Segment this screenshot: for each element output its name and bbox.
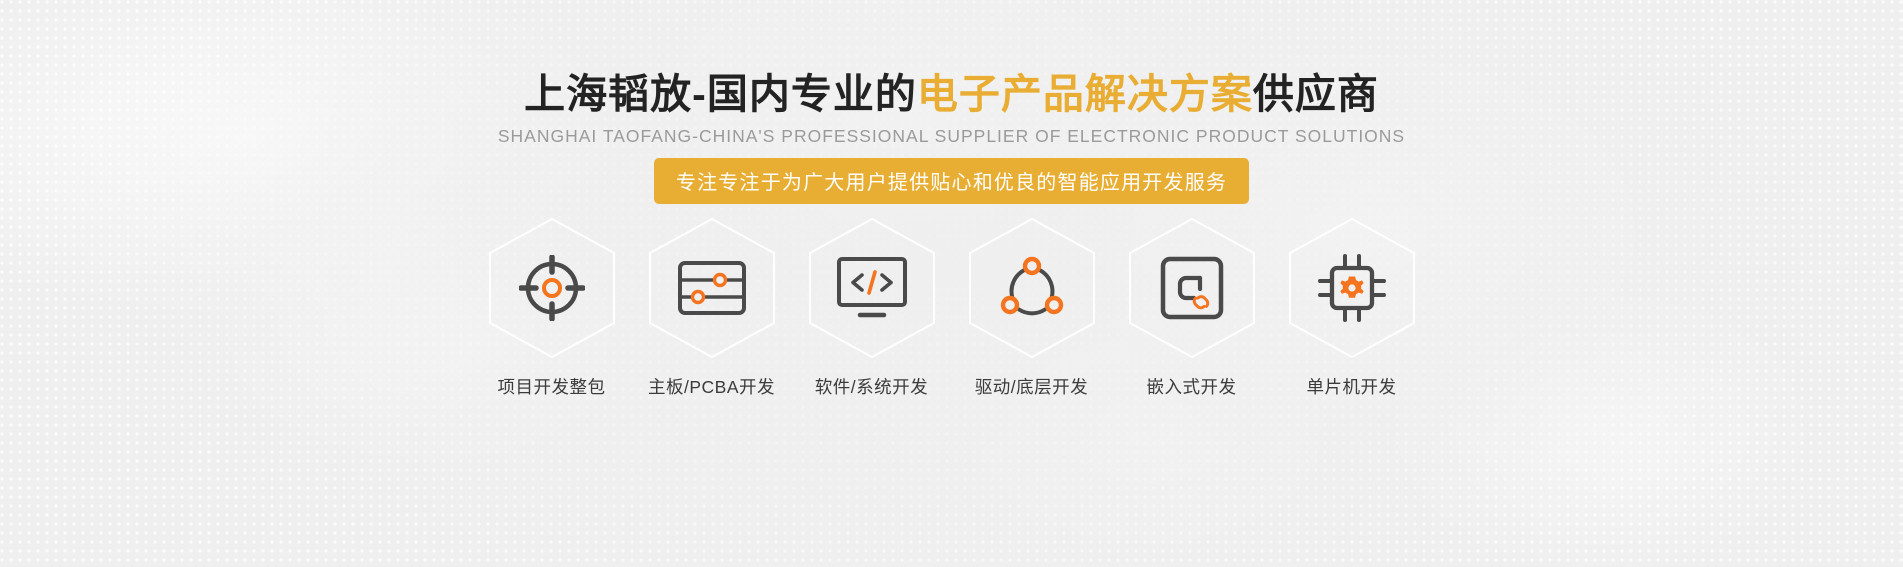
embedded-chip-link-icon bbox=[1160, 256, 1224, 320]
crosshair-target-icon bbox=[519, 255, 585, 321]
service-label: 项目开发整包 bbox=[498, 374, 606, 399]
hexagon-frame bbox=[967, 216, 1097, 360]
hexagon-frame bbox=[647, 216, 777, 360]
page-subtitle: SHANGHAI TAOFANG-CHINA'S PROFESSIONAL SU… bbox=[0, 126, 1903, 147]
service-item-project-package[interactable]: 项目开发整包 bbox=[472, 216, 632, 399]
hexagon-frame bbox=[1287, 216, 1417, 360]
circuit-board-icon bbox=[677, 259, 747, 317]
service-item-software-system[interactable]: 软件/系统开发 bbox=[792, 216, 952, 399]
service-label: 软件/系统开发 bbox=[815, 374, 928, 399]
gear-icon bbox=[1340, 277, 1363, 298]
service-label: 嵌入式开发 bbox=[1147, 374, 1237, 399]
hexagon-frame bbox=[1127, 216, 1257, 360]
banner-content: 上海韬放-国内专业的电子产品解决方案供应商 SHANGHAI TAOFANG-C… bbox=[0, 0, 1903, 567]
service-item-mcu[interactable]: 单片机开发 bbox=[1272, 216, 1432, 399]
headline-lead: 上海韬放-国内专业的 bbox=[524, 71, 917, 117]
tagline-badge-row: 专注专注于为广大用户提供贴心和优良的智能应用开发服务 bbox=[0, 158, 1903, 204]
service-list: 项目开发整包 bbox=[0, 216, 1903, 399]
headline-accent: 电子产品解决方案 bbox=[917, 71, 1253, 117]
network-nodes-icon bbox=[998, 254, 1066, 322]
service-label: 主板/PCBA开发 bbox=[648, 374, 775, 399]
service-item-embedded[interactable]: 嵌入式开发 bbox=[1112, 216, 1272, 399]
monitor-code-icon bbox=[836, 256, 908, 320]
hero-banner: 上海韬放-国内专业的电子产品解决方案供应商 SHANGHAI TAOFANG-C… bbox=[0, 0, 1903, 567]
service-label: 驱动/底层开发 bbox=[975, 374, 1088, 399]
page-title: 上海韬放-国内专业的电子产品解决方案供应商 bbox=[0, 72, 1903, 117]
hexagon-frame bbox=[487, 216, 617, 360]
service-item-pcba[interactable]: 主板/PCBA开发 bbox=[632, 216, 792, 399]
service-label: 单片机开发 bbox=[1307, 374, 1397, 399]
service-item-driver-lowlevel[interactable]: 驱动/底层开发 bbox=[952, 216, 1112, 399]
status-badge: 专注专注于为广大用户提供贴心和优良的智能应用开发服务 bbox=[654, 158, 1249, 204]
hexagon-frame bbox=[807, 216, 937, 360]
microcontroller-gear-icon bbox=[1316, 252, 1388, 324]
headline-tail: 供应商 bbox=[1253, 71, 1379, 117]
